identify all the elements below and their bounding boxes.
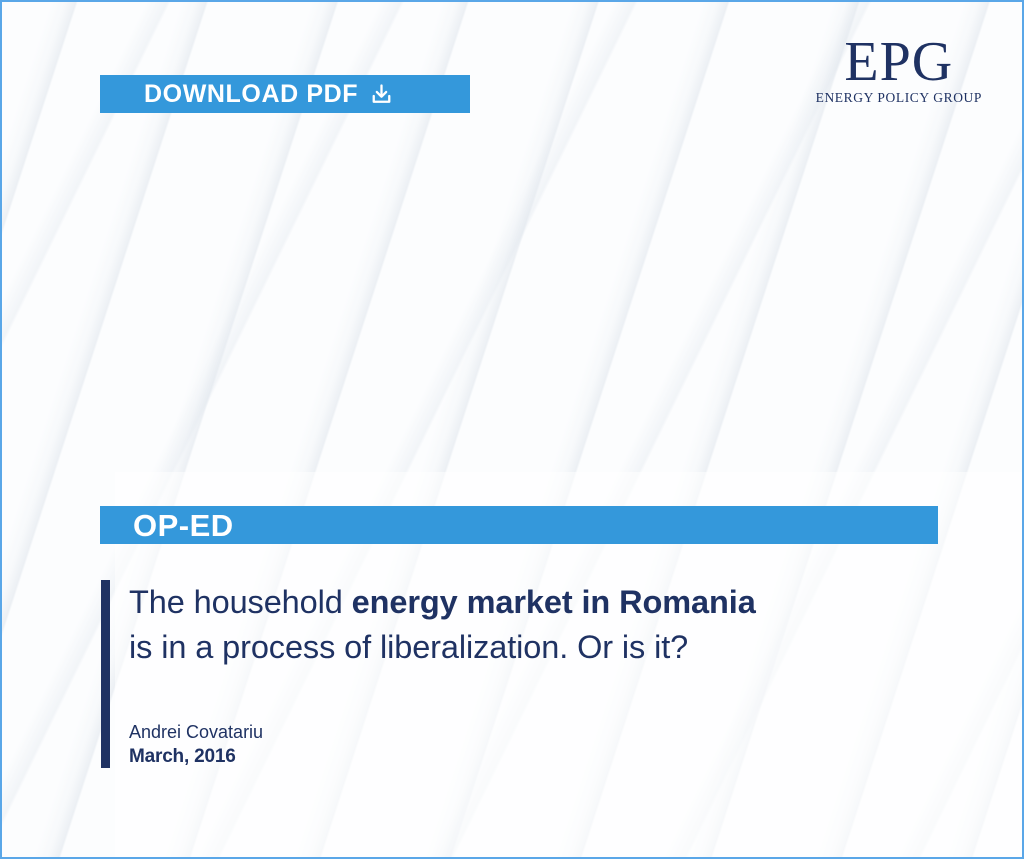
download-pdf-button[interactable]: DOWNLOAD PDF <box>100 75 470 113</box>
document-page: DOWNLOAD PDF EPG ENERGY POLICY GROUP OP-… <box>0 0 1024 859</box>
oped-banner-label: OP-ED <box>133 510 234 541</box>
logo-mark: EPG <box>816 36 982 89</box>
byline: Andrei Covatariu March, 2016 <box>129 720 961 770</box>
title-line1-bold: energy market in Romania <box>352 584 756 620</box>
download-pdf-label: DOWNLOAD PDF <box>144 82 358 107</box>
epg-logo: EPG ENERGY POLICY GROUP <box>816 36 982 106</box>
logo-subtitle: ENERGY POLICY GROUP <box>816 90 982 106</box>
oped-banner: OP-ED <box>100 506 938 544</box>
title-body: The household energy market in Romania i… <box>129 580 961 768</box>
page-title: The household energy market in Romania i… <box>129 580 961 670</box>
title-line2: is in a process of liberalization. Or is… <box>129 629 688 665</box>
download-icon <box>370 83 393 106</box>
publication-date: March, 2016 <box>129 744 961 770</box>
title-block: The household energy market in Romania i… <box>101 580 961 768</box>
title-line1-light: The household <box>129 584 352 620</box>
author-name: Andrei Covatariu <box>129 720 961 744</box>
accent-bar <box>101 580 110 768</box>
